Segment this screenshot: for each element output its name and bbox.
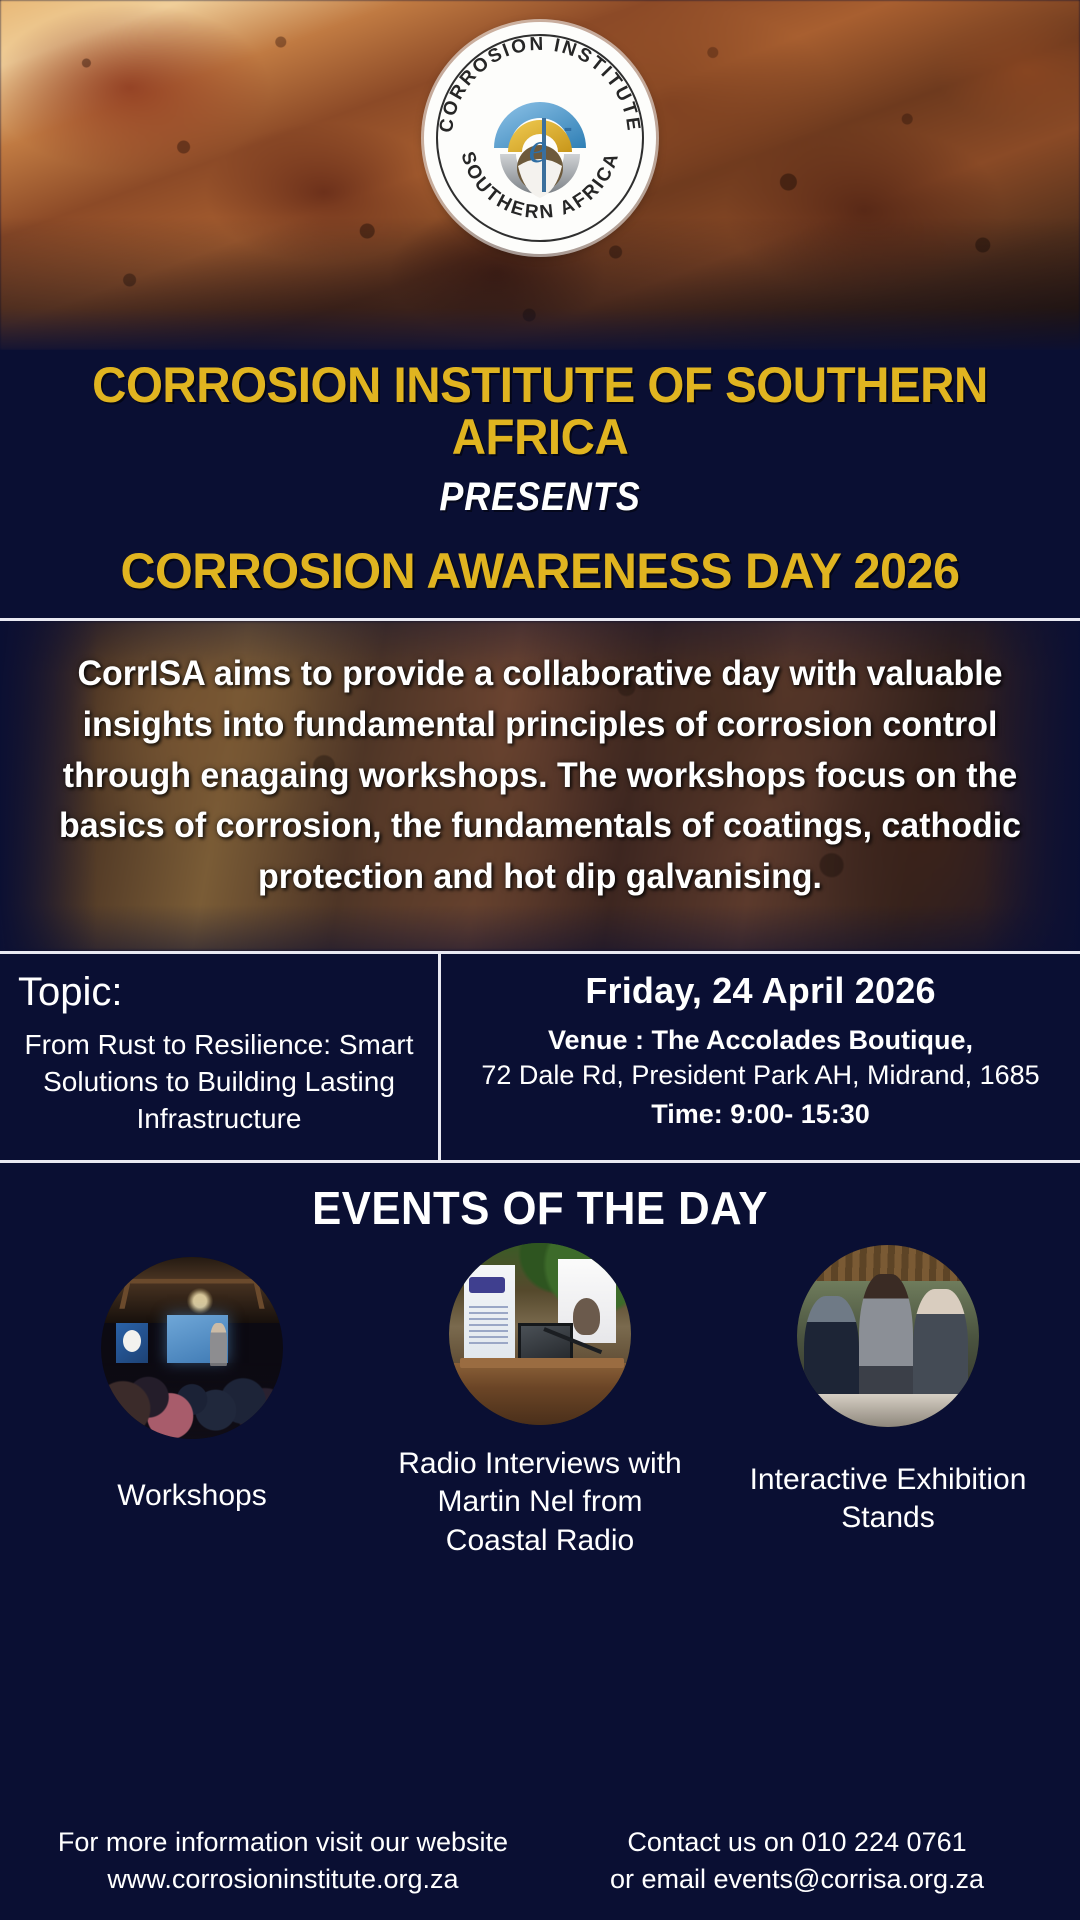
workshop-auditorium-photo — [101, 1257, 283, 1439]
footer: For more information visit our website w… — [0, 1818, 1080, 1920]
event-card-exhibition-stands: Interactive Exhibition Stands — [728, 1257, 1048, 1538]
website-url[interactable]: www.corrosioninstitute.org.za — [26, 1861, 540, 1898]
event-caption: Interactive Exhibition Stands — [728, 1461, 1048, 1538]
event-title: CORROSION AWARENESS DAY 2026 — [30, 542, 1050, 600]
corrisa-logo: CORROSION INSTITUTE SOUTHERN AFRICA e - — [424, 22, 656, 254]
event-venue: Venue : The Accolades Boutique, — [455, 1024, 1066, 1056]
website-info-line1: For more information visit our website — [26, 1824, 540, 1861]
events-section: EVENTS OF THE DAY Workshops Radio Interv… — [0, 1163, 1080, 1818]
topic-text: From Rust to Resilience: Smart Solutions… — [18, 1026, 420, 1138]
events-heading: EVENTS OF THE DAY — [27, 1181, 1053, 1235]
description-section: CorrISA aims to provide a collaborative … — [0, 621, 1080, 951]
radio-interview-photo — [449, 1243, 631, 1425]
event-poster: CORROSION INSTITUTE SOUTHERN AFRICA e - — [0, 0, 1080, 1920]
event-details-column: Friday, 24 April 2026 Venue : The Accola… — [441, 954, 1080, 1160]
event-caption: Workshops — [32, 1477, 352, 1515]
contact-email[interactable]: or email events@corrisa.org.za — [540, 1861, 1054, 1898]
hero-banner: CORROSION INSTITUTE SOUTHERN AFRICA e - — [0, 0, 1080, 350]
contact-phone[interactable]: Contact us on 010 224 0761 — [540, 1824, 1054, 1861]
topic-column: Topic: From Rust to Resilience: Smart So… — [0, 954, 441, 1160]
title-block: CORROSION INSTITUTE OF SOUTHERN AFRICA P… — [0, 350, 1080, 604]
event-card-radio-interviews: Radio Interviews with Martin Nel from Co… — [380, 1257, 700, 1560]
presents-label: PRESENTS — [67, 475, 1014, 520]
description-text: CorrISA aims to provide a collaborative … — [16, 621, 1064, 903]
info-row: Topic: From Rust to Resilience: Smart So… — [0, 951, 1080, 1163]
svg-text:e: e — [529, 126, 548, 172]
events-grid: Workshops Radio Interviews with Martin N… — [0, 1257, 1080, 1560]
website-info: For more information visit our website w… — [26, 1824, 540, 1899]
event-caption: Radio Interviews with Martin Nel from Co… — [380, 1445, 700, 1560]
event-card-workshops: Workshops — [32, 1257, 352, 1515]
event-address: 72 Dale Rd, President Park AH, Midrand, … — [455, 1058, 1066, 1093]
event-date: Friday, 24 April 2026 — [455, 970, 1066, 1012]
organisation-name: CORROSION INSTITUTE OF SOUTHERN AFRICA — [40, 360, 1039, 463]
exhibition-stand-photo — [797, 1245, 979, 1427]
event-time: Time: 9:00- 15:30 — [455, 1099, 1066, 1130]
contact-info: Contact us on 010 224 0761 or email even… — [540, 1824, 1054, 1899]
svg-text:-: - — [564, 112, 573, 142]
topic-label: Topic: — [18, 970, 420, 1014]
